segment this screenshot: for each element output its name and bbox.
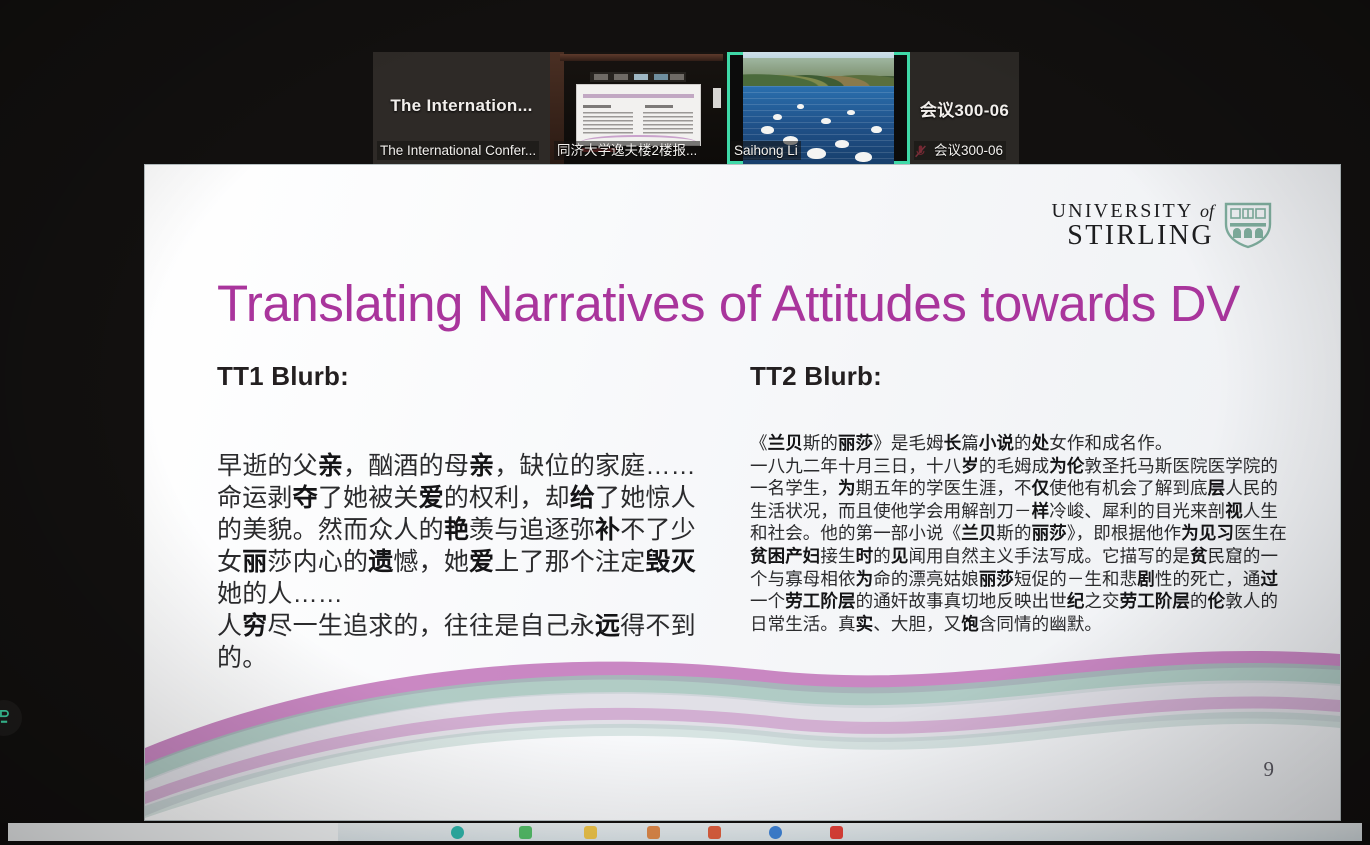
tt1-heading: TT1 Blurb: [217,361,717,392]
zoom-floating-control-icon[interactable] [0,700,22,736]
taskbar-icon-3[interactable] [519,826,532,839]
slide-title: Translating Narratives of Attitudes towa… [217,277,1307,331]
zoom-control-glyph-icon [0,710,10,726]
taskbar-icon-6[interactable] [708,826,721,839]
presentation-slide: UNIVERSITY of STIRLING Translating Narra… [145,165,1340,820]
taskbar-icon-8[interactable] [830,826,843,839]
slide-page-number: 9 [1264,757,1275,782]
logo-line-stirling: STIRLING [1052,222,1214,250]
stirling-crest-icon [1224,202,1272,249]
zoom-participant-filmstrip: The Internation... The International Con… [373,52,1019,164]
projected-slide-thumbnail [576,84,701,146]
tt2-heading: TT2 Blurb: [750,361,1290,392]
column-tt1: TT1 Blurb: 早逝的父亲，酗酒的母亲，缺位的家庭……命运剥夺了她被关爱的… [217,361,717,674]
taskbar-icon-2[interactable] [451,826,464,839]
university-of-stirling-logo: UNIVERSITY of STIRLING [1052,201,1272,250]
taskbar-icon-5[interactable] [647,826,660,839]
screen-capture: The Internation... The International Con… [0,0,1370,845]
participant-display-name: 会议300-06 [910,96,1019,121]
participant-name-label: Saihong Li [731,141,801,160]
participant-tile-meeting-300-06[interactable]: 会议300-06 会议300-06 [910,52,1019,164]
taskbar-window-preview[interactable] [8,823,338,841]
column-tt2: TT2 Blurb: 《兰贝斯的丽莎》是毛姆长篇小说的处女作和成名作。 一八九二… [750,361,1290,635]
participant-tile-saihong-li[interactable]: Saihong Li [727,52,910,164]
participant-name-label: 同济大学逸夫楼2楼报... [554,141,700,160]
taskbar-icon-7[interactable] [769,826,782,839]
participant-tile-tongji-room[interactable]: 同济大学逸夫楼2楼报... [550,52,727,164]
tt2-paragraph-1: 《兰贝斯的丽莎》是毛姆长篇小说的处女作和成名作。 [750,432,1290,455]
logo-line-university: UNIVERSITY of [1052,201,1214,221]
taskbar-icon-4[interactable] [584,826,597,839]
tt1-paragraph-1: 早逝的父亲，酗酒的母亲，缺位的家庭……命运剥夺了她被关爱的权利，却给了她惊人的美… [217,450,717,610]
participant-name-label: The International Confer... [377,141,539,160]
participant-tile-the-international-conference[interactable]: The Internation... The International Con… [373,52,550,164]
tt2-body: 《兰贝斯的丽莎》是毛姆长篇小说的处女作和成名作。 一八九二年十月三日，十八岁的毛… [750,432,1290,635]
participant-name-label: 会议300-06 [914,141,1006,160]
decorative-wave-graphic [145,630,1340,820]
windows-taskbar [0,823,1370,845]
participant-display-name: The Internation... [373,96,550,116]
tt2-paragraph-2: 一八九二年十月三日，十八岁的毛姆成为伦敦圣托马斯医院医学院的一名学生，为期五年的… [750,455,1290,636]
